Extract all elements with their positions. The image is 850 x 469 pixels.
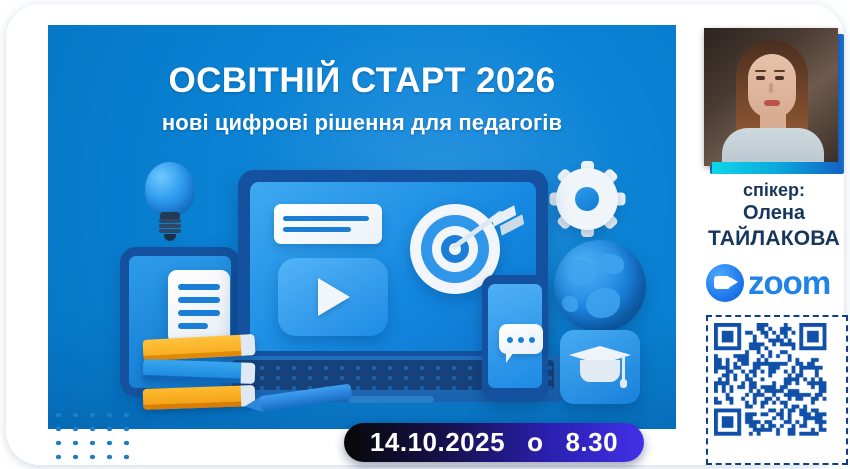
cyan-accent-bar — [712, 162, 842, 174]
lightbulb-icon — [143, 162, 197, 242]
text-card-icon — [274, 204, 382, 244]
page-title: ОСВІТНІЙ СТАРТ 2026 — [48, 61, 676, 101]
zoom-wordmark: zoom — [748, 264, 830, 302]
gear-icon — [556, 168, 618, 230]
page-subtitle: нові цифрові рішення для педагогів — [48, 110, 676, 136]
video-camera-icon — [706, 264, 744, 302]
speaker-photo — [704, 28, 838, 166]
dot-grid-pattern — [48, 406, 130, 464]
speaker-first-name: Олена — [696, 201, 850, 226]
poster-card: ОСВІТНІЙ СТАРТ 2026 нові цифрові рішення… — [6, 4, 844, 465]
speaker-info: спікер: Олена ТАЙЛАКОВА — [696, 179, 850, 252]
zoom-logo: zoom — [706, 262, 846, 304]
event-date: 14.10.2025 — [370, 427, 505, 458]
smartphone-chat-icon — [482, 275, 548, 400]
qr-code[interactable] — [706, 315, 848, 465]
date-separator: о — [527, 427, 543, 458]
event-time: 8.30 — [565, 427, 618, 458]
graduation-cap-icon — [560, 330, 640, 404]
globe-icon — [554, 240, 646, 332]
hero-image: ОСВІТНІЙ СТАРТ 2026 нові цифрові рішення… — [48, 25, 676, 429]
play-button-icon — [278, 258, 388, 336]
speaker-last-name: ТАЙЛАКОВА — [696, 226, 850, 252]
document-card-icon — [168, 270, 230, 344]
date-time-banner: 14.10.2025 о 8.30 — [344, 423, 644, 462]
speaker-role-label: спікер: — [696, 179, 850, 201]
